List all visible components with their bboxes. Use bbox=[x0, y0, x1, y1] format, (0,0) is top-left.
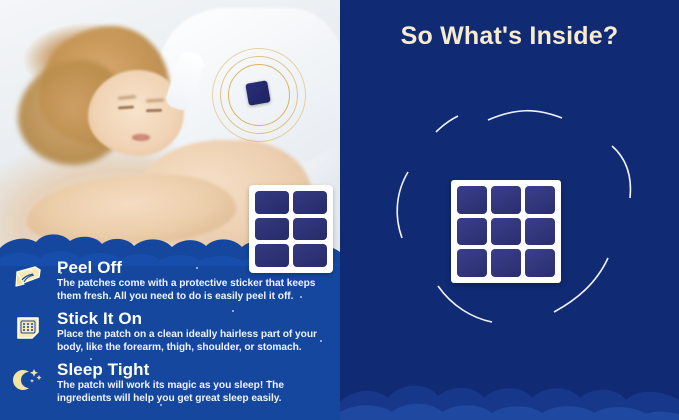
patch-grid-icon bbox=[8, 309, 48, 354]
patch-cell bbox=[457, 249, 487, 277]
step-description: Place the patch on a clean ideally hairl… bbox=[57, 329, 329, 354]
patch-cell bbox=[525, 218, 555, 246]
sleep-patch-sheet-center bbox=[451, 180, 561, 283]
left-panel: Peel Off The patches come with a protect… bbox=[0, 0, 340, 420]
patch-cell bbox=[525, 249, 555, 277]
moon-stars-icon bbox=[8, 360, 48, 405]
patch-cell bbox=[293, 191, 327, 214]
step-description: The patch will work its magic as you sle… bbox=[57, 380, 329, 405]
patch-cell bbox=[457, 218, 487, 246]
step-title: Stick It On bbox=[57, 309, 330, 328]
patch-cell bbox=[525, 186, 555, 214]
instruction-step-sleep-tight: Sleep Tight The patch will work its magi… bbox=[0, 360, 340, 405]
patch-cell bbox=[293, 218, 327, 241]
infographic-stage: Peel Off The patches come with a protect… bbox=[0, 0, 679, 420]
patch-cell bbox=[457, 186, 487, 214]
patch-cell bbox=[255, 191, 289, 214]
instruction-step-peel-off: Peel Off The patches come with a protect… bbox=[0, 258, 340, 303]
lips bbox=[132, 134, 150, 141]
step-description: The patches come with a protective stick… bbox=[57, 278, 329, 303]
bottom-cloud-decoration bbox=[340, 358, 679, 420]
shoulder-patch bbox=[245, 80, 270, 105]
instruction-list: Peel Off The patches come with a protect… bbox=[0, 258, 340, 412]
instruction-step-stick-it-on: Stick It On Place the patch on a clean i… bbox=[0, 309, 340, 354]
step-title: Sleep Tight bbox=[57, 360, 330, 379]
peel-sticker-icon bbox=[8, 258, 48, 303]
patch-cell bbox=[491, 249, 521, 277]
patch-cell bbox=[491, 218, 521, 246]
patch-cell bbox=[491, 186, 521, 214]
step-title: Peel Off bbox=[57, 258, 330, 277]
eye-right-closed bbox=[146, 109, 162, 113]
patch-cell bbox=[255, 218, 289, 241]
